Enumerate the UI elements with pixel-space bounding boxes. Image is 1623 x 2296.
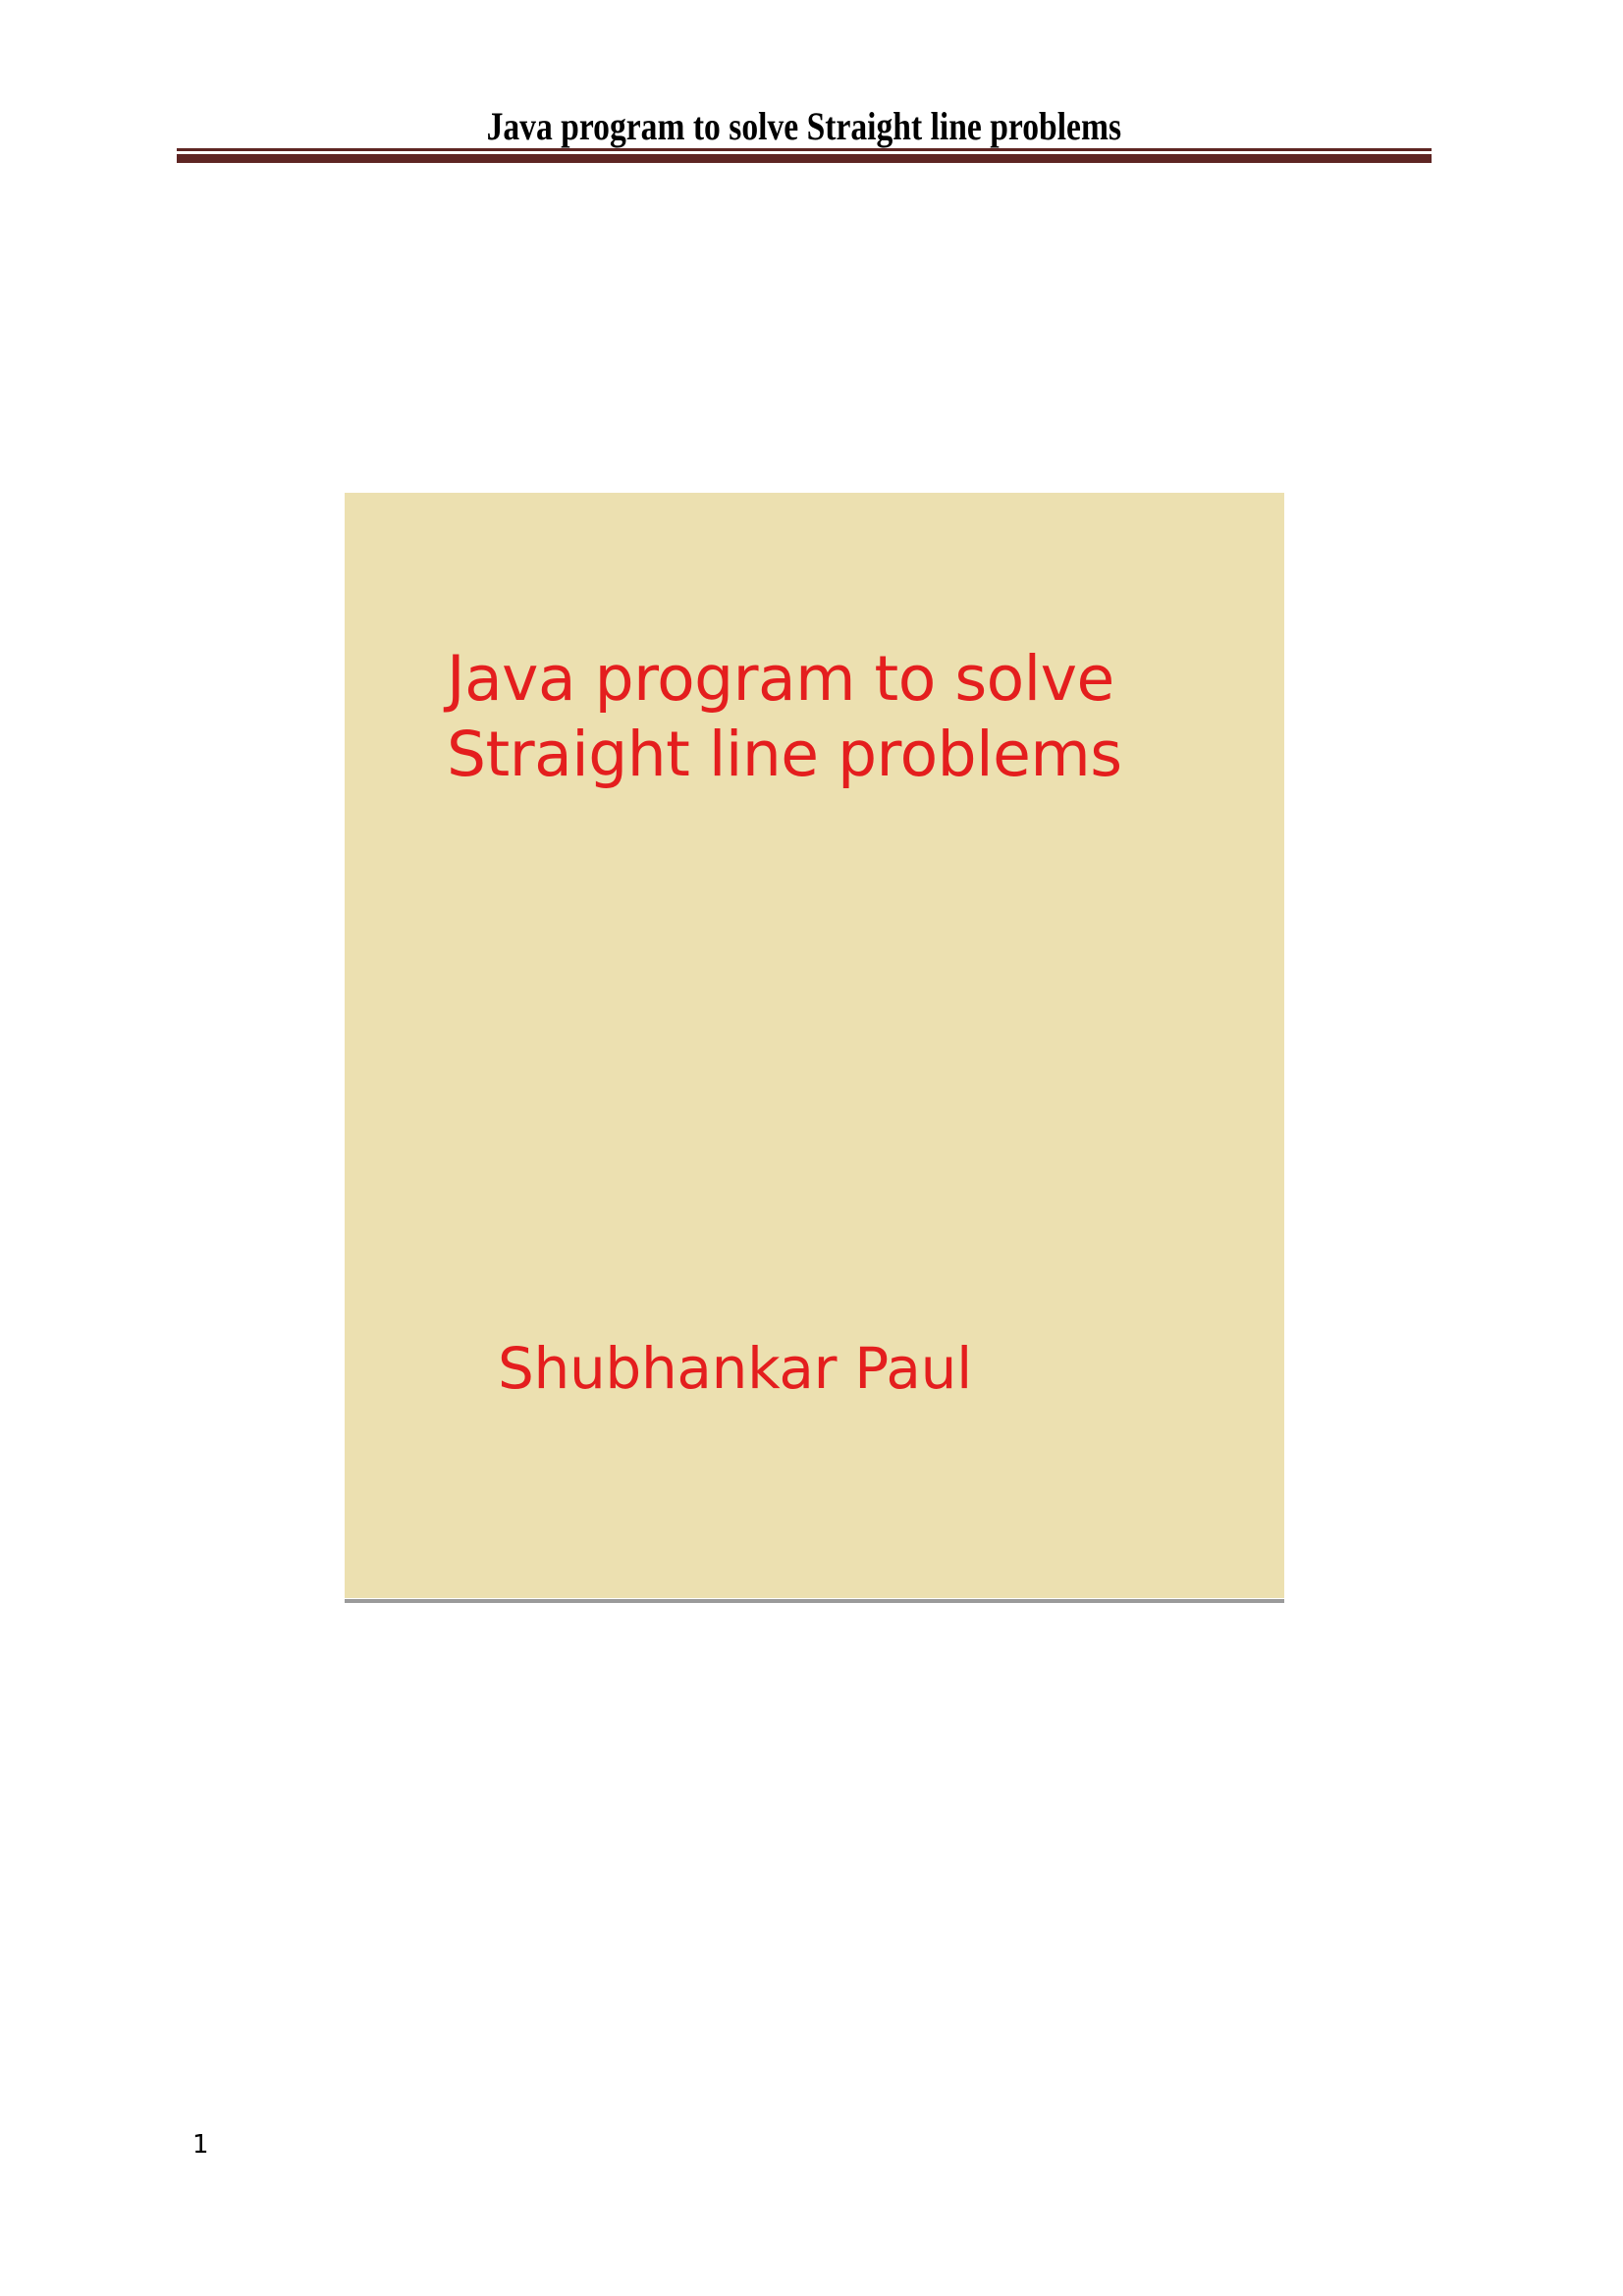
page-number: 1	[192, 2132, 209, 2158]
header-title: Java program to solve Straight line prob…	[487, 106, 1121, 147]
header-rule-thick	[177, 154, 1432, 163]
book-cover-image: Java program to solve Straight line prob…	[345, 493, 1284, 1598]
cover-image-underline	[345, 1599, 1284, 1603]
document-page: Java program to solve Straight line prob…	[0, 0, 1623, 2296]
cover-title: Java program to solve Straight line prob…	[447, 642, 1232, 793]
cover-author-name: Shubhankar Paul	[498, 1335, 1244, 1404]
cover-title-line-2: Straight line problems	[447, 718, 1232, 793]
book-cover-figure: Java program to solve Straight line prob…	[345, 493, 1284, 1604]
cover-title-line-1: Java program to solve	[447, 642, 1232, 718]
page-header: Java program to solve Straight line prob…	[177, 86, 1432, 147]
